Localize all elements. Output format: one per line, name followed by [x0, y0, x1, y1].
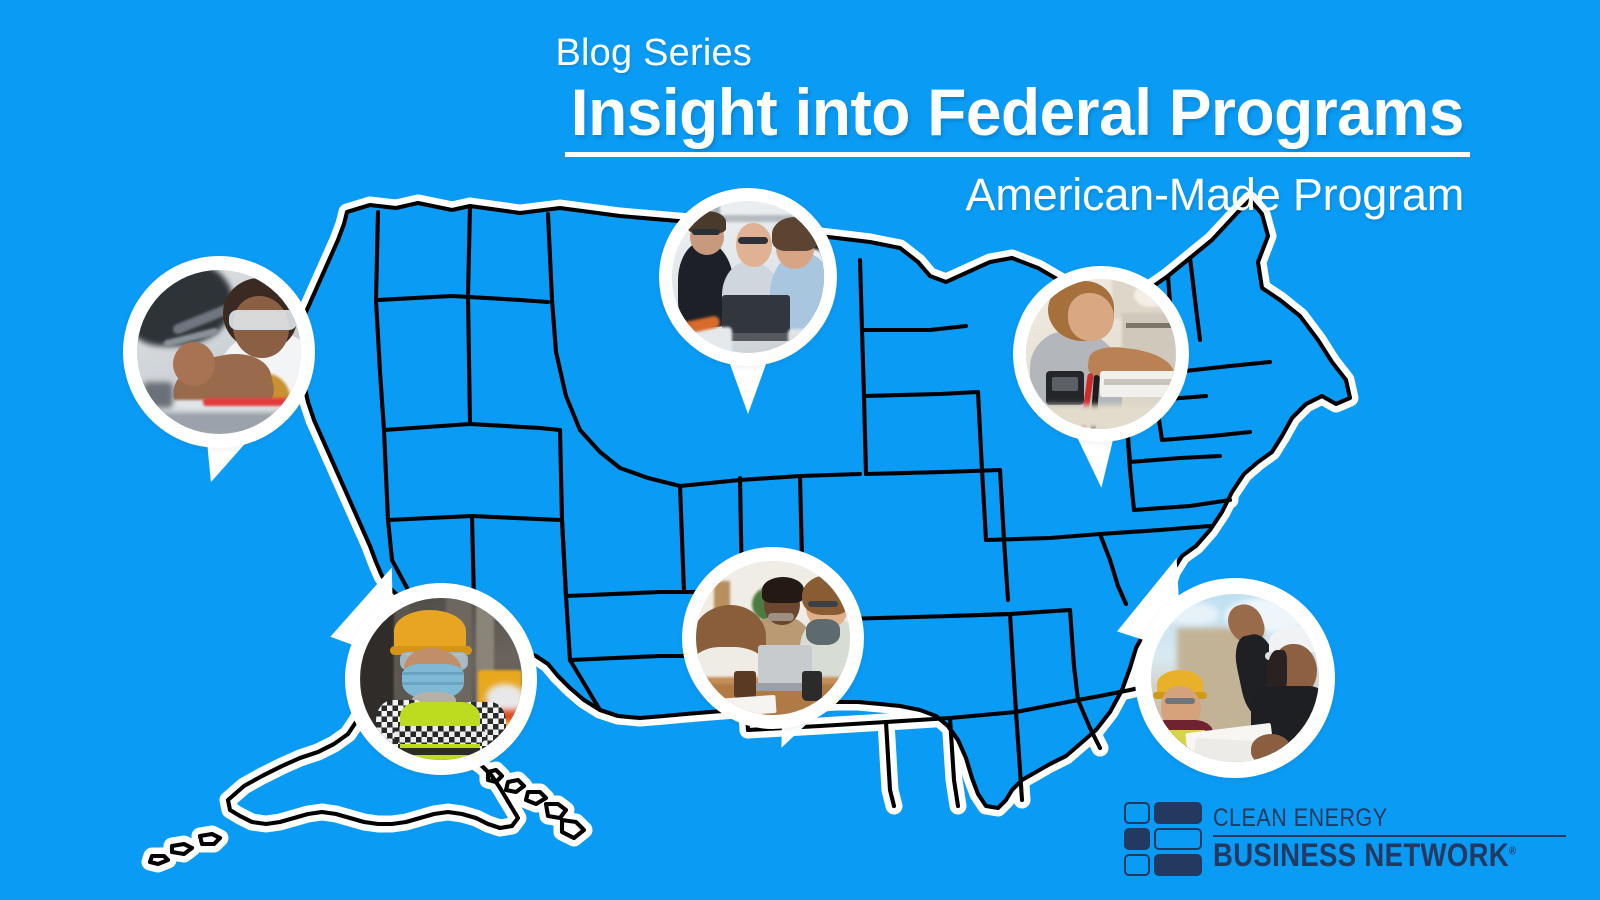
- logo-block-6: [1154, 854, 1202, 876]
- banner-canvas: Blog Series Insight into Federal Program…: [0, 0, 1600, 900]
- pin-photo-lab-researcher: [137, 270, 301, 434]
- pin-photo-engineering-team: [672, 201, 824, 353]
- pin-photo-factory-worker: [360, 598, 522, 760]
- pin-photo-bench-technician: [1026, 279, 1176, 429]
- logo-block-1: [1124, 802, 1150, 824]
- map-pin-west-coast[interactable]: [123, 256, 315, 486]
- logo-mark-icon: [1124, 802, 1202, 876]
- map-pin-north-central[interactable]: [659, 188, 837, 416]
- logo-block-5: [1124, 854, 1150, 876]
- logo-line-business-network: BUSINESS NETWORK®: [1213, 840, 1516, 871]
- logo-block-3: [1124, 828, 1150, 850]
- pin-photo-construction-site: [1151, 594, 1319, 762]
- pin-photo-business-meeting: [696, 561, 850, 715]
- logo-line-clean-energy: CLEAN ENERGY: [1213, 806, 1516, 831]
- logo-line-business-network-text: BUSINESS NETWORK: [1213, 837, 1509, 873]
- map-pin-southwest[interactable]: [345, 583, 537, 775]
- map-pin-southeast[interactable]: [1135, 578, 1335, 778]
- map-pin-south-central[interactable]: [682, 547, 864, 753]
- clean-energy-business-network-logo[interactable]: CLEAN ENERGY BUSINESS NETWORK®: [1124, 802, 1566, 876]
- logo-wordmark: CLEAN ENERGY BUSINESS NETWORK®: [1213, 806, 1566, 871]
- registered-trademark-icon: ®: [1509, 846, 1516, 858]
- logo-block-2: [1154, 802, 1202, 824]
- map-pin-northeast[interactable]: [1013, 266, 1189, 490]
- logo-block-4: [1154, 828, 1202, 850]
